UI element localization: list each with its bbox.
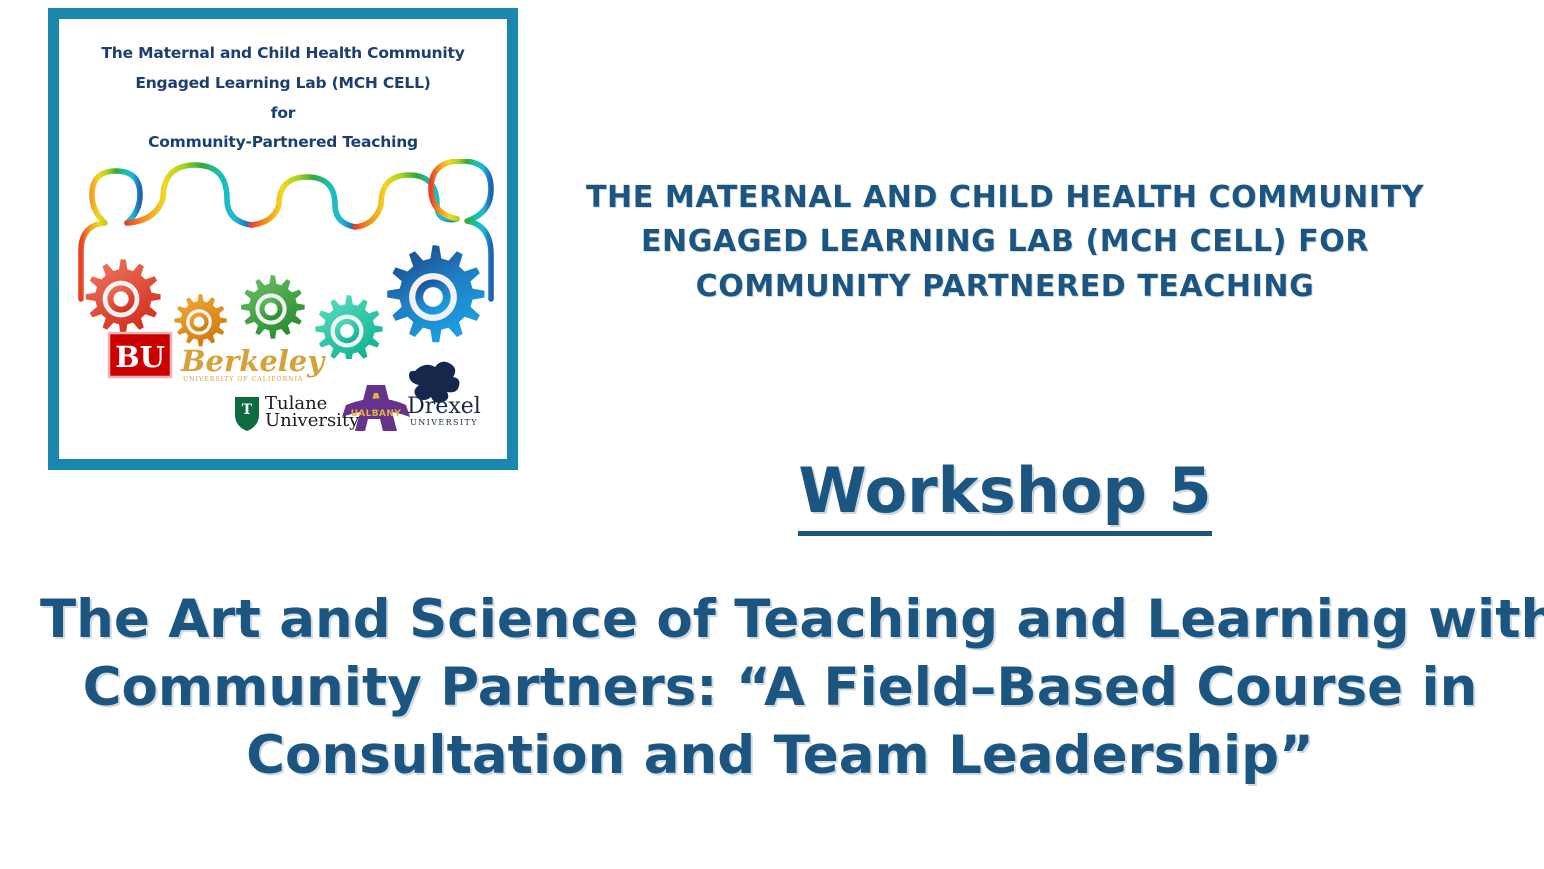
svg-text:UALBANY: UALBANY: [351, 409, 401, 419]
svg-text:Drexel: Drexel: [407, 394, 481, 419]
university-logos-group: BU Berkeley UNIVERSITY OF CALIFORNIA T T…: [59, 319, 507, 459]
logo-title-line-4: Community-Partnered Teaching: [59, 128, 507, 158]
logo-title-line-3: for: [59, 99, 507, 129]
svg-text:Berkeley: Berkeley: [180, 344, 326, 378]
mch-cell-logo-card: The Maternal and Child Health Community …: [48, 8, 518, 470]
subtitle-line-1: The Art and Science of Teaching and Lear…: [40, 586, 1520, 654]
headline-line-3: COMMUNITY PARTNERED TEACHING: [540, 265, 1470, 309]
subtitle-line-3: Consultation and Team Leadership”: [40, 722, 1520, 790]
tulane-university-logo: T Tulane University: [235, 393, 360, 431]
boston-university-logo: BU: [109, 333, 171, 377]
drexel-university-logo: Drexel UNIVERSITY: [407, 362, 481, 427]
workshop-number-label: Workshop 5: [798, 454, 1211, 536]
headline-line-1: THE MATERNAL AND CHILD HEALTH COMMUNITY: [540, 176, 1470, 220]
page-headline: THE MATERNAL AND CHILD HEALTH COMMUNITY …: [540, 176, 1470, 309]
svg-text:BU: BU: [115, 340, 165, 374]
logo-title-line-1: The Maternal and Child Health Community: [59, 39, 507, 69]
logo-title-line-2: Engaged Learning Lab (MCH CELL): [59, 69, 507, 99]
logo-card-inner: The Maternal and Child Health Community …: [59, 19, 507, 459]
svg-text:T: T: [242, 402, 253, 418]
workshop-number-title: Workshop 5: [540, 460, 1470, 522]
workshop-subtitle: The Art and Science of Teaching and Lear…: [40, 586, 1520, 789]
logo-title-block: The Maternal and Child Health Community …: [59, 39, 507, 158]
headline-line-2: ENGAGED LEARNING LAB (MCH CELL) FOR: [540, 220, 1470, 264]
berkeley-logo: Berkeley UNIVERSITY OF CALIFORNIA: [180, 344, 326, 383]
svg-text:UNIVERSITY OF CALIFORNIA: UNIVERSITY OF CALIFORNIA: [183, 376, 303, 383]
svg-text:UNIVERSITY: UNIVERSITY: [410, 418, 478, 427]
subtitle-line-2: Community Partners: “A Field–Based Cours…: [40, 654, 1520, 722]
